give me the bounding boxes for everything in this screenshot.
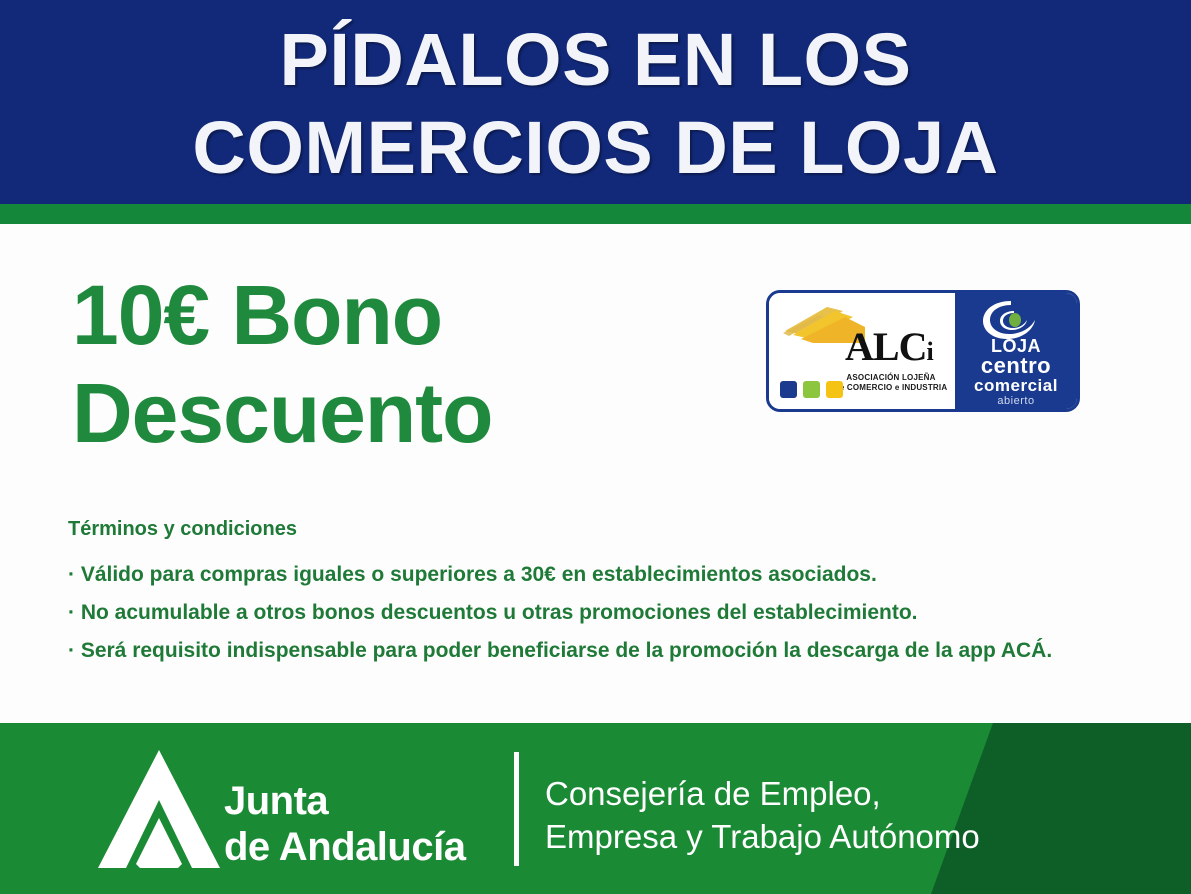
partner-logo-card: ALCi ASOCIACIÓN LOJEÑA de COMERCIO e IND…	[766, 290, 1080, 412]
consejeria-line-1: Consejería de Empleo,	[545, 772, 980, 815]
offer-headline-line-2: Descuento	[72, 364, 712, 462]
terms-and-conditions: Términos y condiciones · Válido para com…	[68, 516, 1148, 670]
junta-wordmark-line-2: de Andalucía	[224, 824, 465, 870]
offer-headline: 10€ Bono Descuento	[72, 266, 712, 462]
alci-subtitle-line-1: ASOCIACIÓN LOJEÑA	[829, 373, 953, 383]
junta-wordmark: Junta de Andalucía	[224, 778, 465, 870]
loja-text-line-3: comercial	[955, 377, 1077, 395]
footer-vertical-divider	[514, 752, 519, 866]
terms-item: · Válido para compras iguales o superior…	[68, 556, 1148, 594]
alci-wordmark-i: i	[926, 337, 932, 366]
alci-square-blue	[780, 381, 797, 398]
header-banner: PÍDALOS EN LOS COMERCIOS DE LOJA	[0, 0, 1191, 205]
promotional-poster: PÍDALOS EN LOS COMERCIOS DE LOJA 10€ Bon…	[0, 0, 1191, 894]
offer-headline-line-1: 10€ Bono	[72, 266, 712, 364]
junta-wordmark-line-1: Junta	[224, 778, 465, 824]
header-title-line-2: COMERCIOS DE LOJA	[0, 104, 1191, 192]
alci-wordmark: ALCi	[845, 326, 933, 373]
alci-subtitle-line-2: de COMERCIO e INDUSTRIA	[829, 383, 953, 393]
alci-subtitle: ASOCIACIÓN LOJEÑA de COMERCIO e INDUSTRI…	[829, 373, 953, 393]
terms-item: · No acumulable a otros bonos descuentos…	[68, 594, 1148, 632]
alci-square-yellow	[826, 381, 843, 398]
loja-swoosh-icon	[981, 300, 1037, 340]
terms-item: · Será requisito indispensable para pode…	[68, 632, 1148, 670]
consejeria-text: Consejería de Empleo, Empresa y Trabajo …	[545, 772, 980, 858]
header-title-line-1: PÍDALOS EN LOS	[0, 16, 1191, 104]
alci-square-green	[803, 381, 820, 398]
terms-title: Términos y condiciones	[68, 516, 1148, 542]
poster-body: 10€ Bono Descuento ALCi ASOCIACIÓN LOJEÑ…	[0, 224, 1191, 723]
loja-text-line-4: abierto	[955, 395, 1077, 408]
alci-color-squares	[780, 381, 843, 398]
alci-wordmark-text: ALC	[845, 324, 926, 369]
header-title: PÍDALOS EN LOS COMERCIOS DE LOJA	[0, 16, 1191, 192]
alci-logo: ALCi ASOCIACIÓN LOJEÑA de COMERCIO e IND…	[769, 293, 955, 409]
header-green-rule	[0, 204, 1191, 224]
loja-logo-text: LOJA centro comercial abierto	[955, 337, 1077, 408]
junta-de-andalucia-arch-icon	[96, 748, 222, 870]
loja-text-line-2: centro	[955, 355, 1077, 377]
loja-centro-comercial-logo: LOJA centro comercial abierto	[955, 293, 1077, 409]
consejeria-line-2: Empresa y Trabajo Autónomo	[545, 815, 980, 858]
